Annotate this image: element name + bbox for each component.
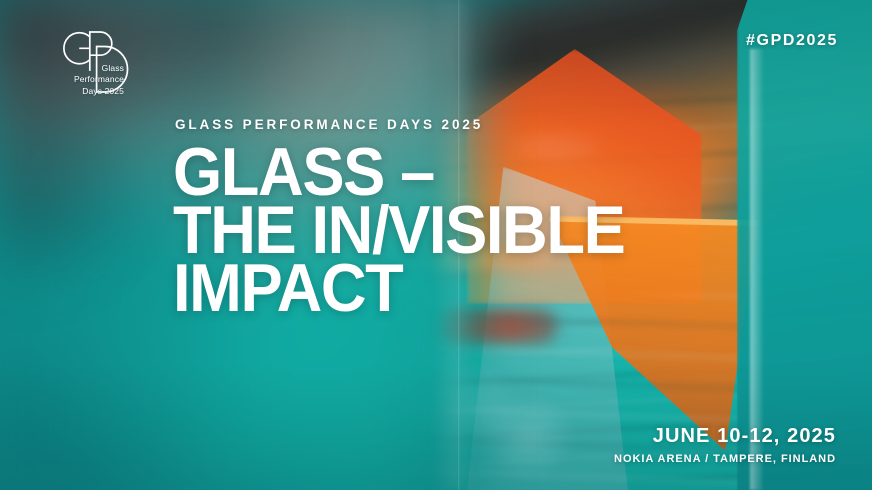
hashtag-label: #GPD2025 [746,32,838,50]
poster-canvas: Glass Performance Days 2025 #GPD2025 GLA… [0,0,872,490]
gpd-logo-line-3: Days 2025 [46,86,124,97]
event-venue: NOKIA ARENA / TAMPERE, FINLAND [614,452,836,466]
event-date: JUNE 10-12, 2025 [614,424,836,448]
gpd-logo-line-1: Glass [46,63,124,74]
poster-content: Glass Performance Days 2025 #GPD2025 GLA… [0,0,872,490]
headline: GLASS – THE IN/VISIBLE IMPACT [173,143,624,317]
gpd-logo: Glass Performance Days 2025 [49,26,145,106]
event-kicker: GLASS PERFORMANCE DAYS 2025 [175,117,483,132]
event-details: JUNE 10-12, 2025 NOKIA ARENA / TAMPERE, … [614,424,836,466]
gpd-logo-line-2: Performance [46,74,124,85]
gpd-logo-wordmark: Glass Performance Days 2025 [46,63,124,97]
